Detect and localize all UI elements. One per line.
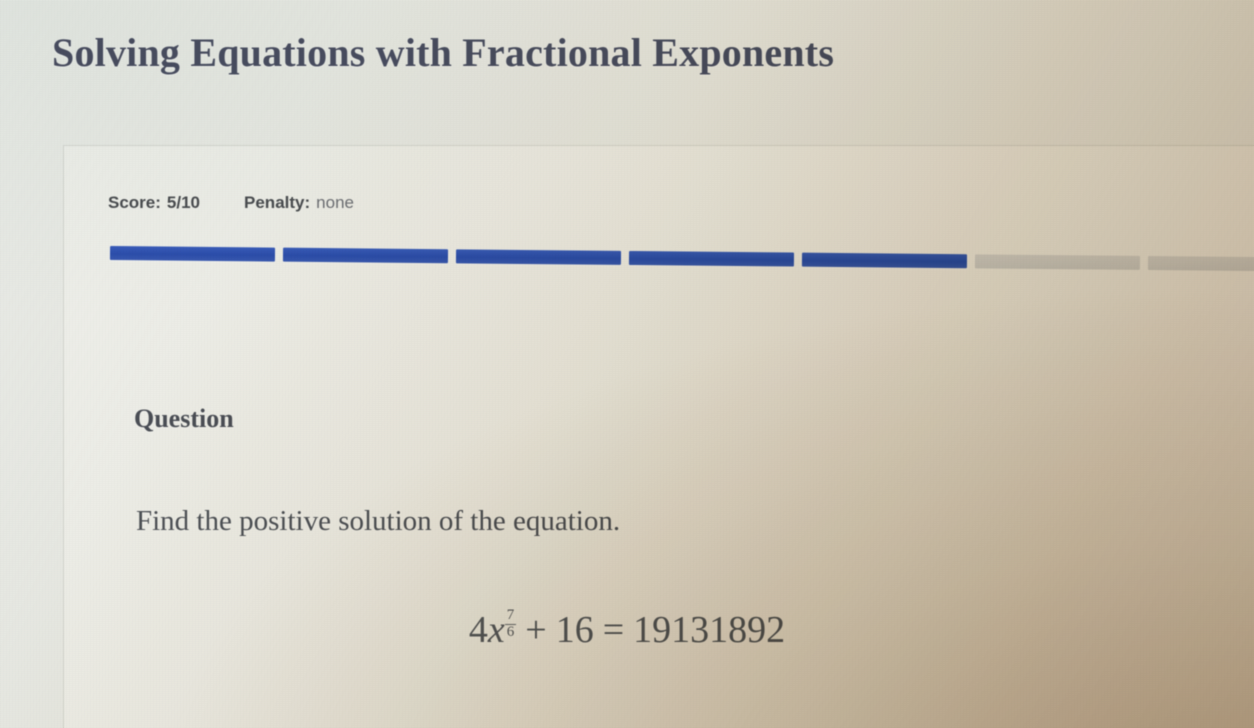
score-label: Score:	[108, 193, 161, 213]
progress-segment	[802, 253, 967, 269]
penalty-block: Penalty: none	[244, 193, 354, 213]
equation-operator: +	[516, 608, 555, 652]
photographed-screen: Solving Equations with Fractional Expone…	[0, 0, 1254, 728]
score-block: Score: 5/10	[108, 193, 200, 213]
progress-segment	[283, 248, 448, 264]
equation-fractional-exponent: 76	[505, 608, 517, 640]
progress-segment	[975, 254, 1140, 270]
equation-coefficient: 4	[469, 608, 488, 652]
exponent-numerator: 7	[505, 608, 517, 623]
penalty-label: Penalty:	[244, 193, 310, 213]
progress-segment	[1148, 256, 1254, 272]
score-value: 5/10	[167, 193, 200, 213]
page-title: Solving Equations with Fractional Expone…	[52, 32, 834, 74]
equation-constant: 16	[556, 608, 594, 652]
progress-segment	[629, 251, 794, 267]
question-prompt: Find the positive solution of the equati…	[136, 505, 620, 538]
equation-right-side: 19131892	[633, 608, 785, 652]
equation-equals-sign: =	[594, 608, 633, 652]
progress-segment	[110, 246, 275, 262]
question-section-label: Question	[134, 404, 234, 434]
equation: 4x76+16=19131892	[0, 608, 1254, 652]
progress-segment	[456, 249, 621, 265]
status-row: Score: 5/10 Penalty: none	[108, 193, 354, 213]
penalty-value: none	[316, 193, 354, 213]
equation-variable: x	[488, 608, 505, 652]
exponent-denominator: 6	[505, 625, 517, 640]
